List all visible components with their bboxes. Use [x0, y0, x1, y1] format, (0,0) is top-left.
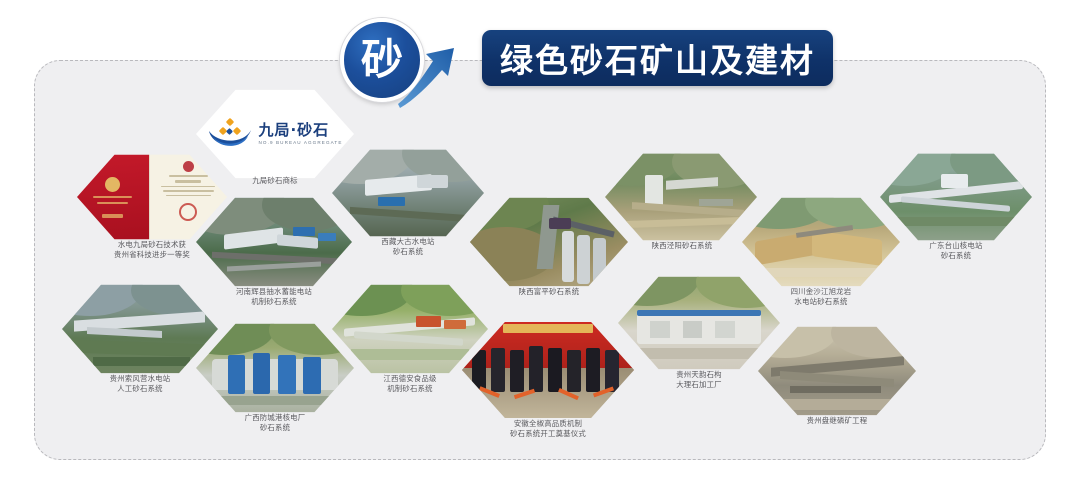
- caption-brand-logo: 九局砂石商标: [196, 176, 354, 186]
- caption-guangxi-fangcheng: 广西防城港核电厂 砂石系统: [190, 413, 360, 432]
- main-title-box: 绿色砂石矿山及建材: [482, 30, 833, 86]
- logo-text-en: NO.9 BUREAU AGGREGATE: [258, 140, 342, 145]
- caption-guizhou-panjiang: 贵州盘继磷矿工程: [752, 416, 922, 426]
- main-title: 绿色砂石矿山及建材: [500, 34, 815, 82]
- curved-arrow-icon: [398, 46, 484, 110]
- sand-badge-glyph: 砂: [361, 39, 403, 81]
- caption-shaanxi-jingyang: 陕西泾阳砂石系统: [600, 241, 764, 251]
- caption-guizhou-sufengying: 贵州索风营水电站 人工砂石系统: [56, 374, 224, 393]
- caption-henan-huixian: 河南辉县抽水蓄能电站 机制砂石系统: [190, 287, 358, 306]
- caption-shaanxi-fuping: 陕西富平砂石系统: [464, 287, 634, 297]
- logo-text-cn: 九局·砂石: [258, 123, 329, 138]
- caption-xizang-dagu: 西藏大古水电站 砂石系统: [326, 237, 490, 256]
- header: 砂 绿色砂石矿山及建材: [0, 0, 1080, 120]
- caption-guangdong-taishan: 广东台山核电站 砂石系统: [874, 241, 1038, 260]
- caption-anhui-quanjiao: 安徽全椒高品质机制 砂石系统开工奠基仪式: [452, 419, 644, 438]
- nine-bureau-logo-icon: [207, 117, 253, 151]
